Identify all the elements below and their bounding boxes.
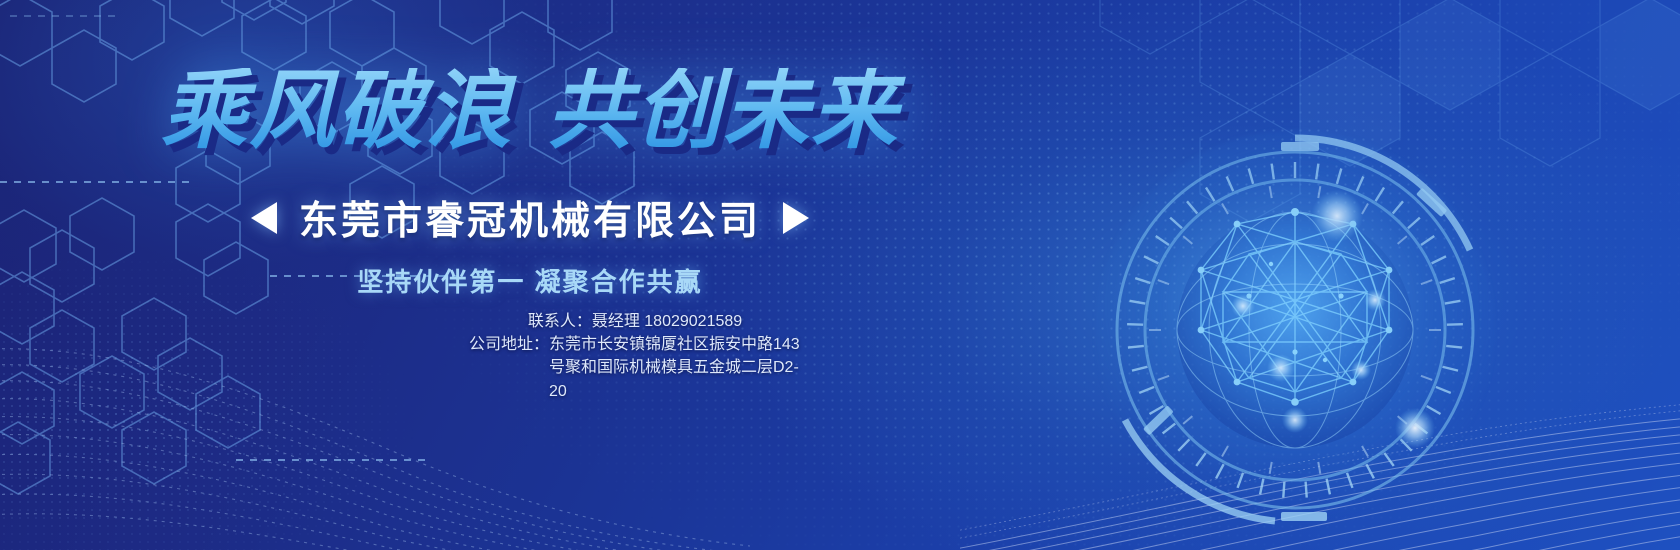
headline-part1: 乘风破浪 bbox=[161, 63, 513, 159]
globe-glow bbox=[1095, 130, 1495, 530]
contact-address-value: 东莞市长安镇锦厦社区振安中路143号聚和国际机械模具五金城二层D2-20 bbox=[549, 333, 801, 403]
headline-part2: 共创未来 bbox=[547, 63, 899, 159]
page-title: 乘风破浪共创未来 bbox=[0, 68, 1060, 154]
company-name-row: 东莞市睿冠机械有限公司 bbox=[0, 190, 1060, 246]
network-globe-graphic bbox=[1085, 120, 1505, 540]
company-name: 东莞市睿冠机械有限公司 bbox=[299, 190, 761, 246]
triangle-right-icon bbox=[783, 202, 809, 234]
contact-block: 联系人：聂经理 18029021589 公司地址：东莞市长安镇锦厦社区振安中路1… bbox=[380, 310, 890, 403]
banner-content: 乘风破浪共创未来 东莞市睿冠机械有限公司 坚持伙伴第一 凝聚合作共赢 联系人：聂… bbox=[0, 0, 1060, 550]
contact-person-value: 聂经理 18029021589 bbox=[592, 310, 742, 333]
contact-person-label: 联系人： bbox=[528, 310, 592, 333]
promo-banner: 乘风破浪共创未来 东莞市睿冠机械有限公司 坚持伙伴第一 凝聚合作共赢 联系人：聂… bbox=[0, 0, 1680, 550]
contact-person-line: 联系人：聂经理 18029021589 bbox=[380, 310, 890, 333]
contact-address-label: 公司地址： bbox=[469, 333, 549, 403]
contact-address-line: 公司地址：东莞市长安镇锦厦社区振安中路143号聚和国际机械模具五金城二层D2-2… bbox=[380, 333, 890, 403]
slogan-text: 坚持伙伴第一 凝聚合作共赢 bbox=[0, 262, 1060, 299]
triangle-left-icon bbox=[251, 202, 277, 234]
